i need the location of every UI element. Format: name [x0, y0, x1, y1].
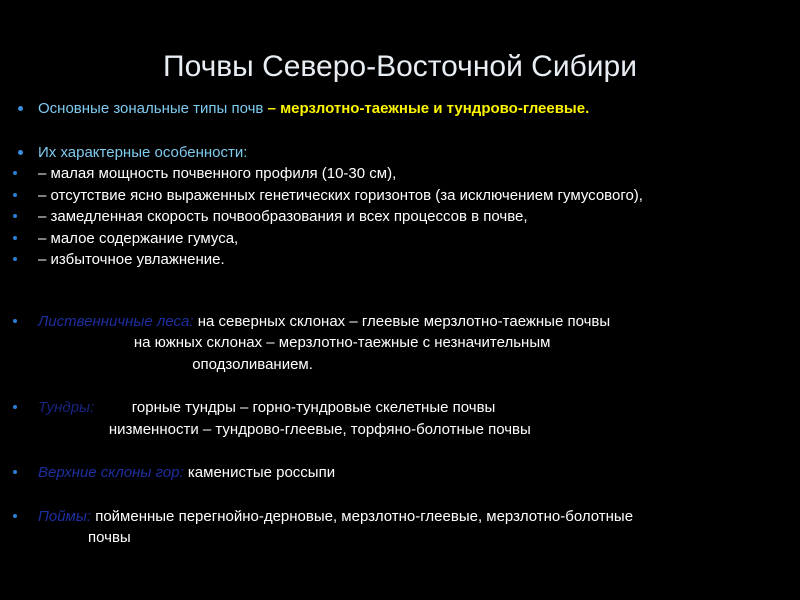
- list-item-feature: – отсутствие ясно выраженных генетически…: [0, 185, 800, 207]
- list-item-zone-larch-forests: Лиственничные леса: на северных склонах …: [0, 311, 800, 333]
- bullet-dot-icon: [18, 150, 23, 155]
- spacer: [0, 301, 800, 311]
- bullet-dot-icon: [13, 470, 17, 474]
- list-item-features-heading: Их характерные особенности:: [0, 142, 800, 164]
- feature-text: – малое содержание гумуса,: [38, 230, 238, 247]
- zone-text: на северных склонах – глеевые мерзлотно-…: [194, 313, 611, 330]
- feature-text: – отсутствие ясно выраженных генетически…: [38, 187, 643, 204]
- zone-label: Верхние склоны гор:: [38, 464, 184, 481]
- main-types-label: Основные зональные типы почв: [38, 100, 268, 117]
- features-heading-label: Их характерные особенности:: [38, 144, 247, 161]
- bullet-dot-icon: [13, 257, 17, 261]
- list-item-zone-upper-slopes: Верхние склоны гор: каменистые россыпи: [0, 462, 800, 484]
- zone-continuation-line: низменности – тундрово-глеевые, торфяно-…: [0, 419, 800, 441]
- bullet-dot-icon: [18, 106, 23, 111]
- bullet-dot-icon: [13, 319, 17, 323]
- spacer: [0, 120, 800, 142]
- feature-text: – избыточное увлажнение.: [38, 251, 225, 268]
- bullet-dot-icon: [13, 193, 17, 197]
- bullet-dot-icon: [13, 236, 17, 240]
- page-title: Почвы Северо-Восточной Сибири: [0, 50, 800, 84]
- list-item-feature: – малое содержание гумуса,: [0, 228, 800, 250]
- list-item-feature: – замедленная скорость почвообразования …: [0, 206, 800, 228]
- slide-body: Основные зональные типы почв – мерзлотно…: [0, 98, 800, 549]
- slide-canvas: Почвы Северо-Восточной Сибири Основные з…: [0, 0, 800, 600]
- feature-text: – малая мощность почвенного профиля (10-…: [38, 165, 396, 182]
- zone-text: пойменные перегнойно-дерновые, мерзлотно…: [91, 508, 633, 525]
- list-item-feature: – малая мощность почвенного профиля (10-…: [0, 163, 800, 185]
- list-item-main-types: Основные зональные типы почв – мерзлотно…: [0, 98, 800, 120]
- bullet-dot-icon: [13, 214, 17, 218]
- zone-text: горные тундры – горно-тундровые скелетны…: [94, 399, 495, 416]
- spacer: [0, 375, 800, 397]
- spacer: [0, 484, 800, 506]
- feature-text: – замедленная скорость почвообразования …: [38, 208, 528, 225]
- zone-continuation-line: оподзоливанием.: [0, 354, 800, 376]
- spacer: [0, 271, 800, 301]
- spacer: [0, 440, 800, 462]
- main-types-value: – мерзлотно-таежные и тундрово-глеевые.: [268, 100, 590, 117]
- zone-continuation-line: на южных склонах – мерзлотно-таежные с н…: [0, 332, 800, 354]
- bullet-dot-icon: [13, 171, 17, 175]
- zone-text: каменистые россыпи: [184, 464, 335, 481]
- list-item-zone-tundra: Тундры: горные тундры – горно-тундровые …: [0, 397, 800, 419]
- list-item-feature: – избыточное увлажнение.: [0, 249, 800, 271]
- zone-continuation-line: почвы: [0, 527, 800, 549]
- bullet-dot-icon: [13, 405, 17, 409]
- zone-label: Поймы:: [38, 508, 91, 525]
- zone-label: Тундры:: [38, 399, 94, 416]
- bullet-dot-icon: [13, 514, 17, 518]
- list-item-zone-floodplains: Поймы: пойменные перегнойно-дерновые, ме…: [0, 506, 800, 528]
- zone-label: Лиственничные леса:: [38, 313, 194, 330]
